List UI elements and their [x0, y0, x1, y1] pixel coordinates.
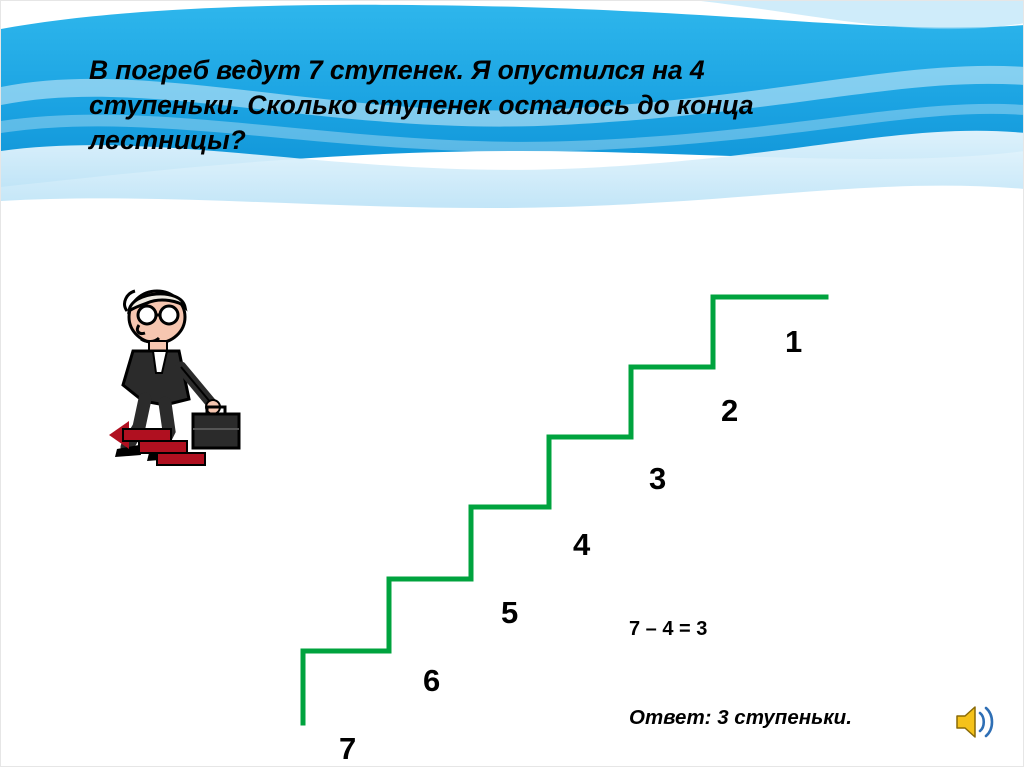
page-title: В погреб ведут 7 ступенек. Я опустился н…: [89, 53, 789, 159]
answer-text: Ответ: 3 ступеньки.: [629, 706, 852, 730]
step-label-2: 2: [721, 393, 738, 429]
equation-text: 7 – 4 = 3: [629, 618, 707, 641]
step-label-1: 1: [785, 324, 802, 360]
slide: В погреб ведут 7 ступенек. Я опустился н…: [0, 0, 1024, 767]
speaker-icon[interactable]: [953, 701, 1001, 748]
step-label-3: 3: [649, 461, 666, 497]
step-label-5: 5: [501, 595, 518, 631]
stairs-graphic: [281, 271, 841, 741]
person-with-briefcase-figure: [61, 281, 281, 506]
step-label-7: 7: [339, 731, 356, 767]
step-label-6: 6: [423, 663, 440, 699]
stairs-diagram: 1 2 3 4 5 6 7: [281, 271, 841, 746]
step-label-4: 4: [573, 527, 590, 563]
